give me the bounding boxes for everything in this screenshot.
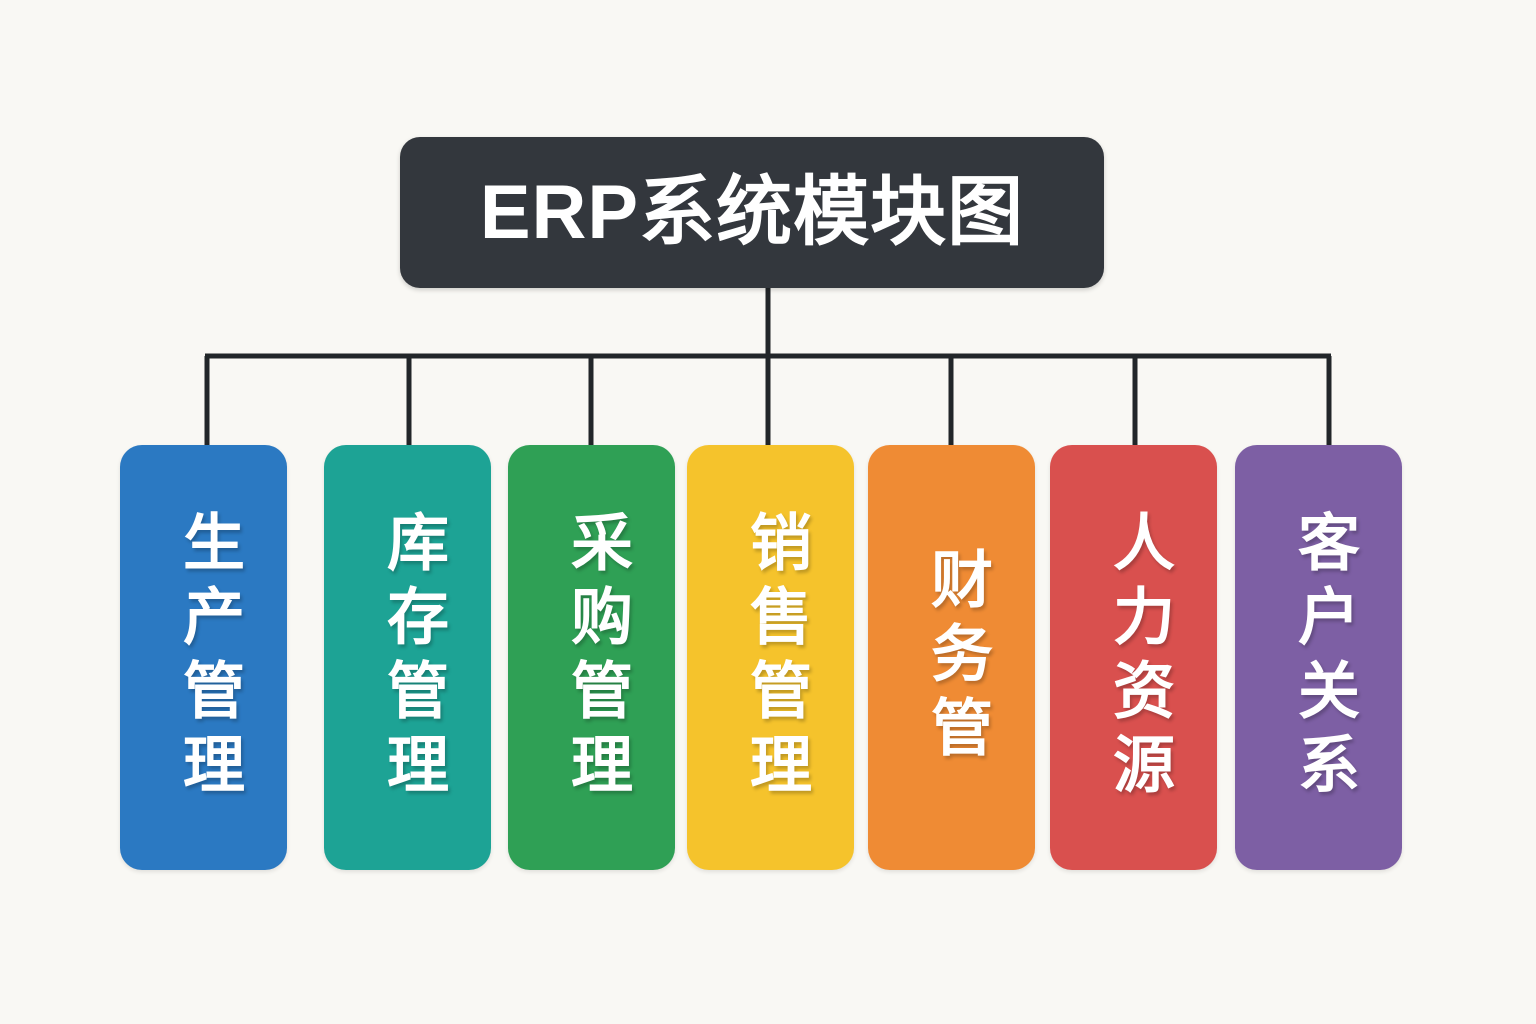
module-label-2: 库存管理 [374,510,449,806]
diagram-title-label: ERP系统模块图 [480,175,1024,251]
module-label-7: 客户关系 [1285,510,1360,806]
module-node-6[interactable]: 人力资源 [1050,445,1217,870]
module-label-1: 生产管理 [170,510,245,806]
diagram-canvas: ERP系统模块图 生产管理 库存管理 采购管理 销售管理 财务管 人力资源 客户… [0,0,1536,1024]
module-label-5: 财务管 [918,547,993,769]
module-label-6: 人力资源 [1100,510,1175,806]
diagram-title-node[interactable]: ERP系统模块图 [400,137,1104,288]
module-node-7[interactable]: 客户关系 [1235,445,1402,870]
module-node-5[interactable]: 财务管 [868,445,1035,870]
module-label-4: 销售管理 [737,510,812,806]
module-node-2[interactable]: 库存管理 [324,445,491,870]
module-label-3: 采购管理 [558,510,633,806]
module-node-3[interactable]: 采购管理 [508,445,675,870]
module-node-4[interactable]: 销售管理 [687,445,854,870]
module-node-1[interactable]: 生产管理 [120,445,287,870]
